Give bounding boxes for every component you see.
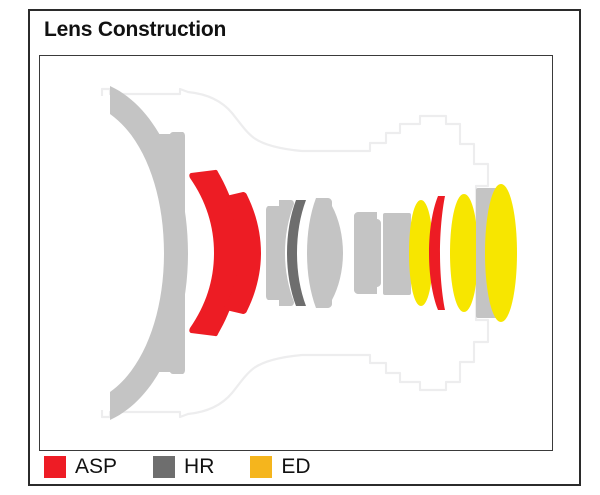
lens-element-rear-ed-2 bbox=[450, 194, 478, 312]
legend-swatch-hr bbox=[153, 456, 175, 478]
lens-element-rear-ed-3 bbox=[485, 184, 517, 322]
lens-element-mid-element-2 bbox=[307, 198, 343, 308]
lens-element-rear-asp-3 bbox=[429, 196, 445, 310]
legend-item-asp: ASP bbox=[44, 456, 117, 478]
lens-element-mid-element-3 bbox=[354, 212, 381, 294]
legend-item-ed: ED bbox=[250, 456, 310, 478]
page-title: Lens Construction bbox=[44, 17, 226, 43]
rear-group bbox=[383, 184, 517, 322]
legend-item-hr: HR bbox=[153, 456, 214, 478]
legend-label-hr: HR bbox=[184, 456, 214, 478]
lens-element-rear-barrel-block-1 bbox=[383, 213, 411, 295]
front-group bbox=[110, 86, 261, 420]
diagram-panel bbox=[39, 55, 553, 451]
legend-label-asp: ASP bbox=[75, 456, 117, 478]
lens-cross-section-svg bbox=[40, 56, 552, 450]
legend: ASP HR ED bbox=[44, 456, 347, 478]
legend-swatch-asp bbox=[44, 456, 66, 478]
legend-swatch-ed bbox=[250, 456, 272, 478]
middle-group bbox=[266, 198, 381, 308]
legend-label-ed: ED bbox=[281, 456, 310, 478]
lens-construction-figure: Lens Construction bbox=[0, 0, 600, 495]
